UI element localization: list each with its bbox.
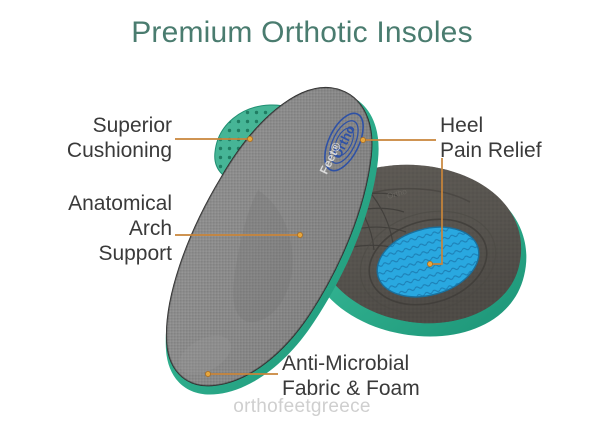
dot-heel-gel (427, 261, 432, 266)
dot-anatomical-arch (297, 232, 302, 237)
callout-anti-microbial-fabric-foam: Anti-Microbial Fabric & Foam (282, 352, 582, 402)
dot-heel-top (360, 137, 365, 142)
callout-anatomical-arch-support: Anatomical Arch Support (6, 192, 172, 266)
insole-infographic: Premium Orthotic Insoles (0, 0, 604, 427)
callout-superior-cushioning: Superior Cushioning (6, 114, 172, 164)
dot-superior-cushioning (247, 136, 252, 141)
dot-anti-microbial (205, 371, 210, 376)
callout-heel-pain-relief: Heel Pain Relief (440, 114, 600, 164)
insole-top-view: Ortho Feet® (166, 88, 379, 395)
